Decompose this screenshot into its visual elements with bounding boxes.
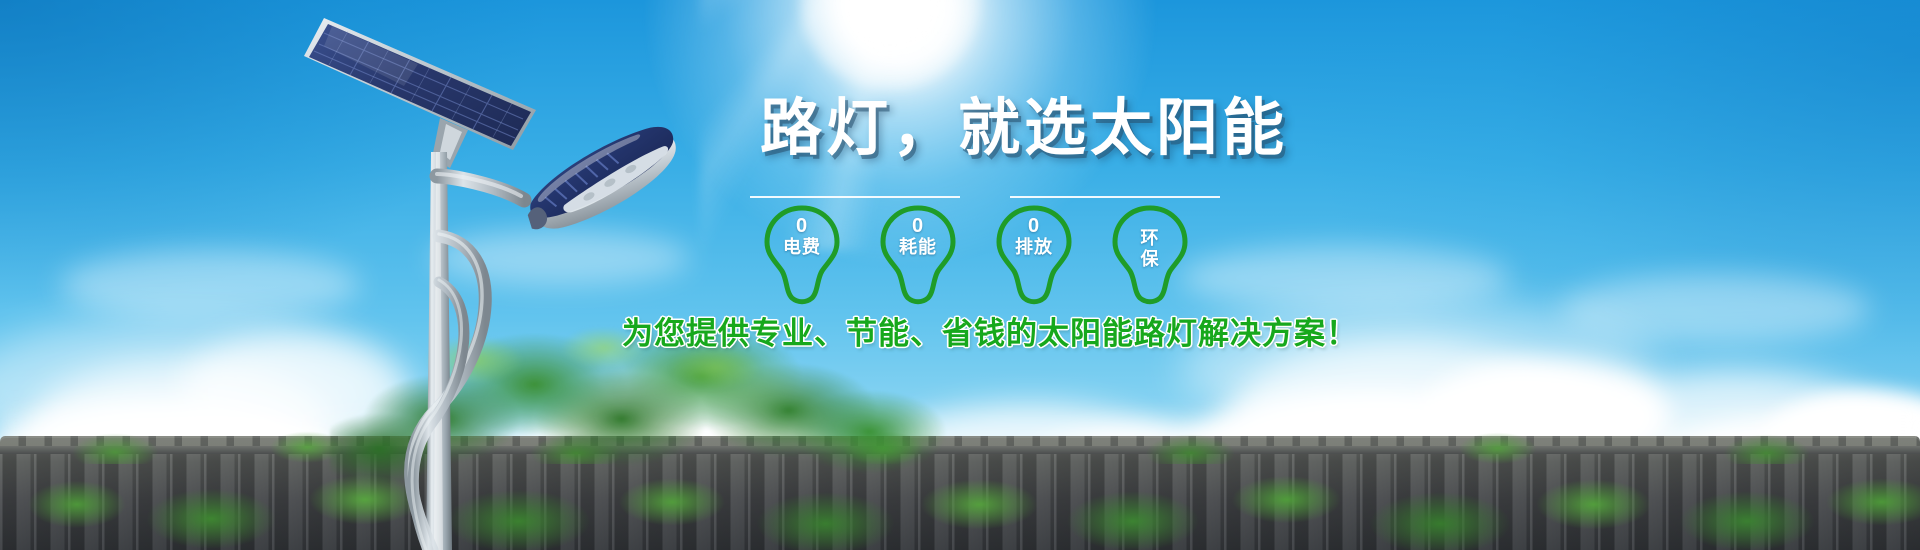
feature-badge-1-consumption: 0 耗能	[874, 202, 962, 306]
banner-subtitle: 为您提供专业、节能、省钱的太阳能路灯解决方案！	[622, 308, 1358, 353]
feature-badge-2-emission: 0 排放	[990, 202, 1078, 306]
feature-badge-3-label: 环保	[1106, 228, 1194, 270]
ground-layer	[0, 420, 1920, 550]
feature-badge-1-label: 耗能	[874, 237, 962, 258]
feature-badge-0-label: 电费	[758, 237, 846, 258]
feature-badge-1-text: 0 耗能	[874, 216, 962, 258]
feature-badge-0-electricity: 0 电费	[758, 202, 846, 306]
feature-badge-2-text: 0 排放	[990, 216, 1078, 258]
feature-badge-2-zero: 0	[990, 216, 1078, 237]
lamp-arm	[437, 174, 524, 200]
solar-street-light-hero-banner: 路灯，就选太阳能 0 电费 0 耗能	[0, 0, 1920, 550]
feature-badge-0-text: 0 电费	[758, 216, 846, 258]
banner-content: 路灯，就选太阳能 0 电费 0 耗能	[600, 90, 1240, 420]
divider-line-left	[750, 196, 960, 198]
divider-line-right	[1010, 196, 1220, 198]
feature-badge-1-zero: 0	[874, 216, 962, 237]
lamp-pole	[426, 152, 452, 550]
page-title: 路灯，就选太阳能	[760, 98, 1288, 160]
feature-badge-2-label: 排放	[990, 237, 1078, 258]
feature-badge-3-text: 环保	[1106, 228, 1194, 270]
ivy-vines	[0, 430, 1920, 550]
feature-badge-list: 0 电费 0 耗能 0 排放	[758, 202, 1228, 310]
feature-badge-3-eco: 环保	[1106, 202, 1194, 306]
solar-panel	[304, 18, 536, 168]
feature-badge-0-zero: 0	[758, 216, 846, 237]
